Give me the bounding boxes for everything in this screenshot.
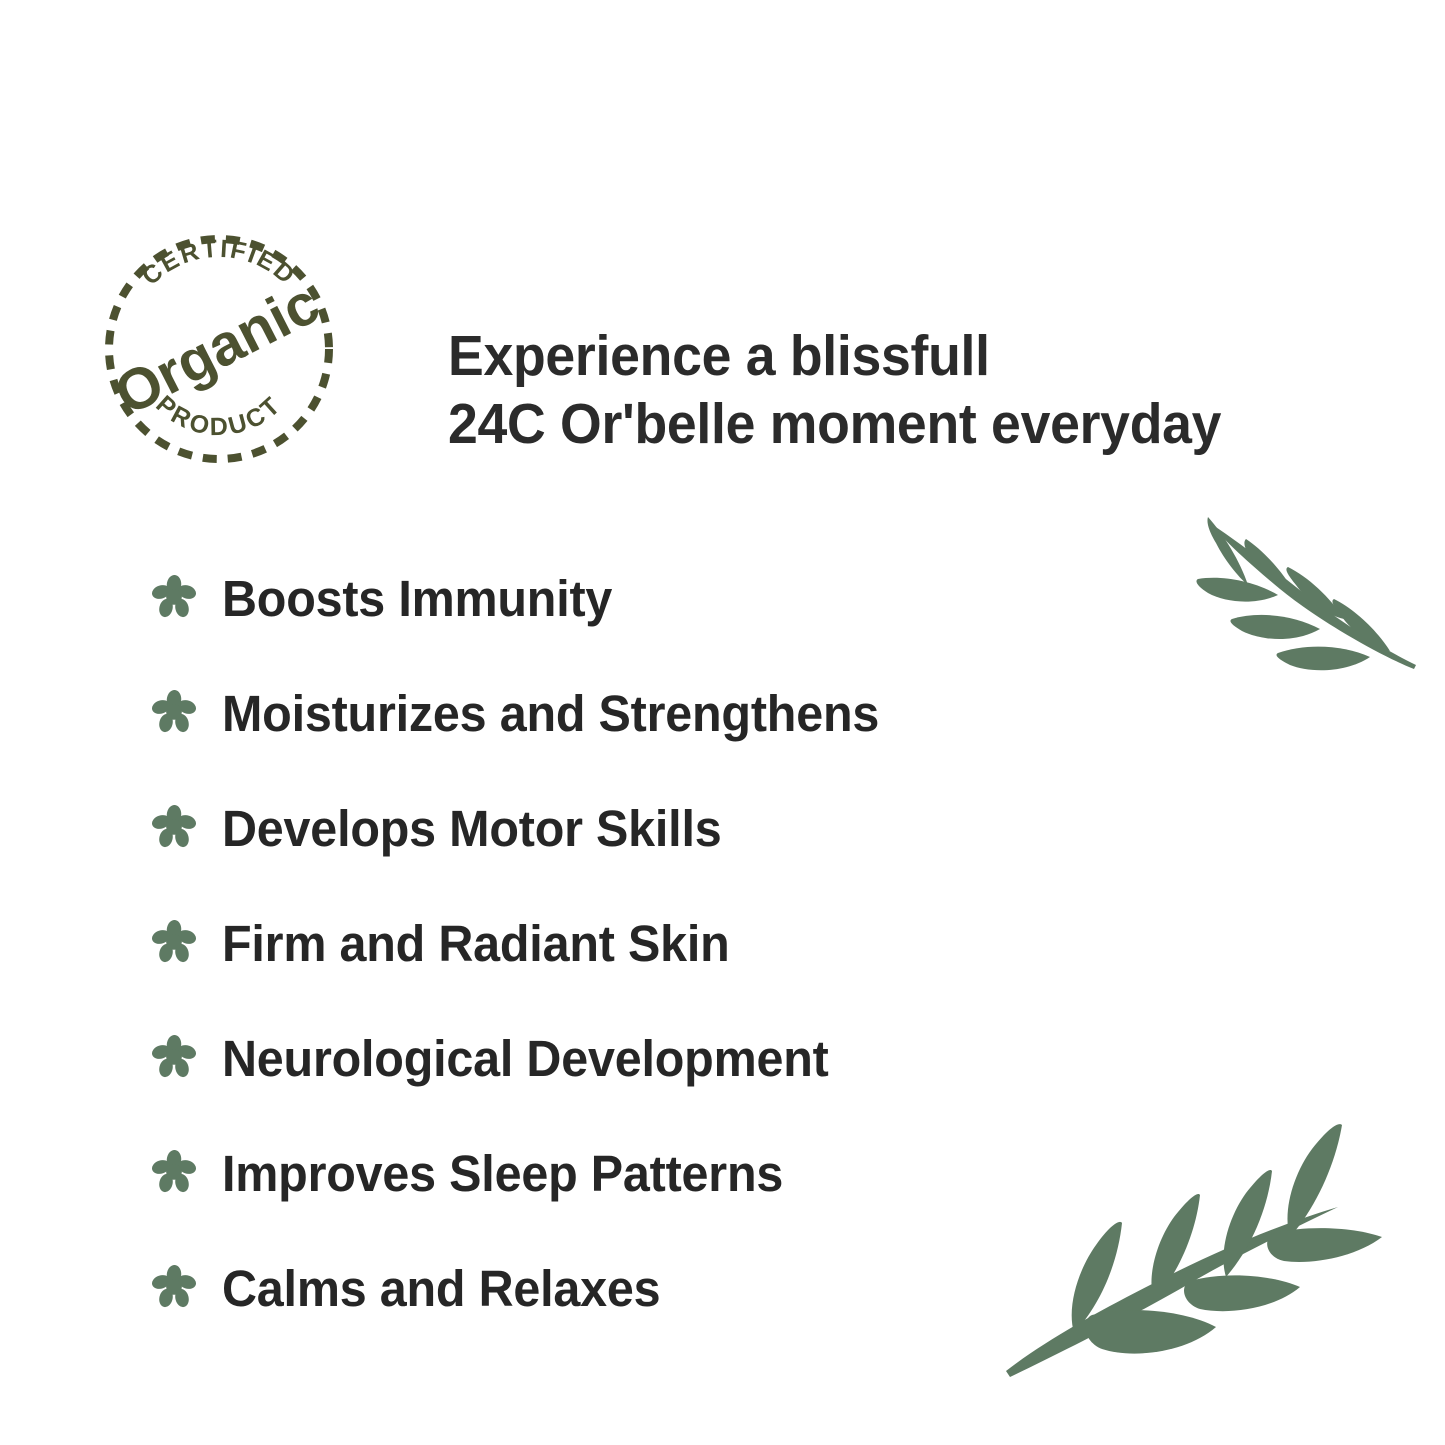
benefit-label: Calms and Relaxes [222, 1261, 660, 1317]
flower-bullet-icon [152, 1150, 196, 1194]
benefit-label: Boosts Immunity [222, 571, 612, 627]
badge-center-text: Organic [105, 270, 330, 427]
benefit-item: Neurological Development [152, 1001, 1252, 1116]
flower-bullet-icon [152, 1035, 196, 1079]
flower-bullet-icon [152, 805, 196, 849]
benefit-label: Develops Motor Skills [222, 801, 721, 857]
benefit-label: Moisturizes and Strengthens [222, 686, 879, 742]
leaf-branch-top-right-icon [1168, 487, 1428, 677]
headline-line-2: 24C Or'belle moment everyday [448, 390, 1341, 458]
benefit-item: Moisturizes and Strengthens [152, 656, 1252, 771]
flower-bullet-icon [152, 920, 196, 964]
certified-organic-badge: CERTIFIED PRODUCT Organic [103, 233, 335, 465]
benefit-label: Neurological Development [222, 1031, 829, 1087]
headline: Experience a blissfull 24C Or'belle mome… [448, 322, 1341, 458]
flower-bullet-icon [152, 690, 196, 734]
product-benefits-graphic: CERTIFIED PRODUCT Organic Experience a b… [0, 0, 1445, 1445]
benefit-label: Firm and Radiant Skin [222, 916, 730, 972]
flower-bullet-icon [152, 575, 196, 619]
leaf-branch-bottom-right-icon [990, 1115, 1400, 1415]
benefit-item: Boosts Immunity [152, 541, 1252, 656]
benefit-item: Firm and Radiant Skin [152, 886, 1252, 1001]
benefit-label: Improves Sleep Patterns [222, 1146, 783, 1202]
flower-bullet-icon [152, 1265, 196, 1309]
headline-line-1: Experience a blissfull [448, 322, 1341, 390]
benefit-item: Develops Motor Skills [152, 771, 1252, 886]
